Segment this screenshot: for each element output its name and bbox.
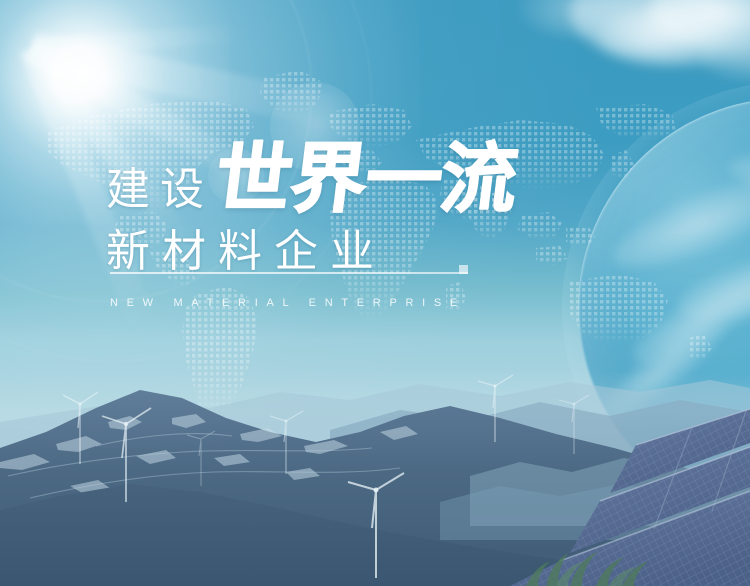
headline-block: 建设 世界一流 新材料企业 — [106, 132, 666, 274]
wind-turbine-icon — [266, 408, 306, 474]
wind-turbine-icon — [184, 428, 218, 486]
solar-panel-array — [450, 401, 750, 586]
headline-emphasis: 世界一流 — [211, 142, 520, 218]
wind-turbine-icon — [96, 404, 156, 502]
divider-end-cap — [459, 265, 468, 274]
wind-turbine-icon — [344, 468, 408, 578]
divider-rule — [110, 272, 468, 274]
headline-kicker: 建设 — [106, 168, 214, 212]
headline-line-1: 建设 世界一流 — [106, 132, 666, 218]
headline-line-2: 新材料企业 — [106, 230, 666, 274]
promotional-banner: 建设 世界一流 新材料企业 NEW MATERIAL ENTERPRISE — [0, 0, 750, 586]
subtitle-english: NEW MATERIAL ENTERPRISE — [110, 297, 466, 309]
